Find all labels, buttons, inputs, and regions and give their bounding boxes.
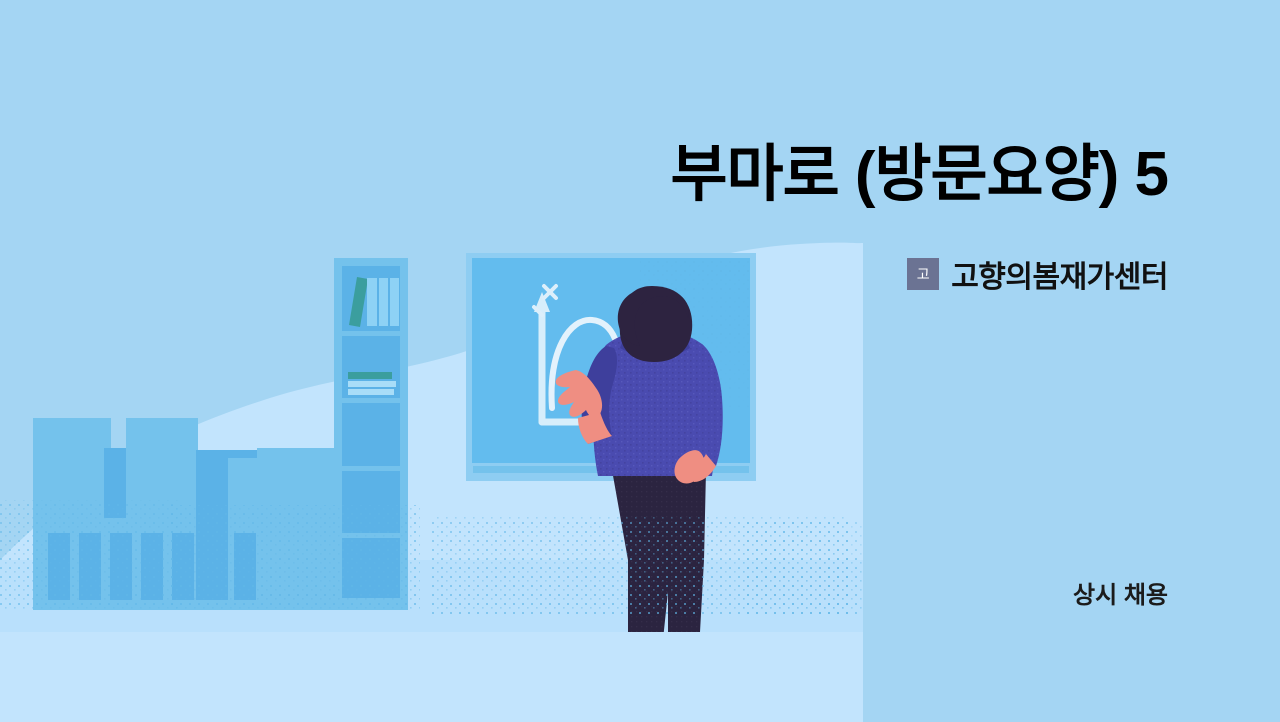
bookshelf-shelf-2 bbox=[342, 336, 400, 398]
poster-canvas: 부마로 (방문요양) 5 고 고향의봄재가센터 상시 채용 bbox=[0, 0, 1280, 722]
book-upright-1 bbox=[367, 278, 377, 326]
books-top-shelf bbox=[349, 277, 399, 327]
bookshelf-shelf-3 bbox=[342, 403, 400, 466]
floor-speckle-left bbox=[0, 500, 180, 612]
edge-speckle bbox=[822, 555, 864, 615]
book-stack-light-2 bbox=[348, 389, 394, 395]
books-second-shelf bbox=[348, 372, 396, 395]
floor-speckle-center bbox=[170, 505, 420, 610]
illustration bbox=[0, 0, 1280, 722]
book-stack-teal bbox=[348, 372, 392, 379]
book-upright-3 bbox=[390, 278, 399, 326]
book-upright-2 bbox=[379, 278, 388, 326]
book-stack-light-1 bbox=[348, 381, 396, 387]
